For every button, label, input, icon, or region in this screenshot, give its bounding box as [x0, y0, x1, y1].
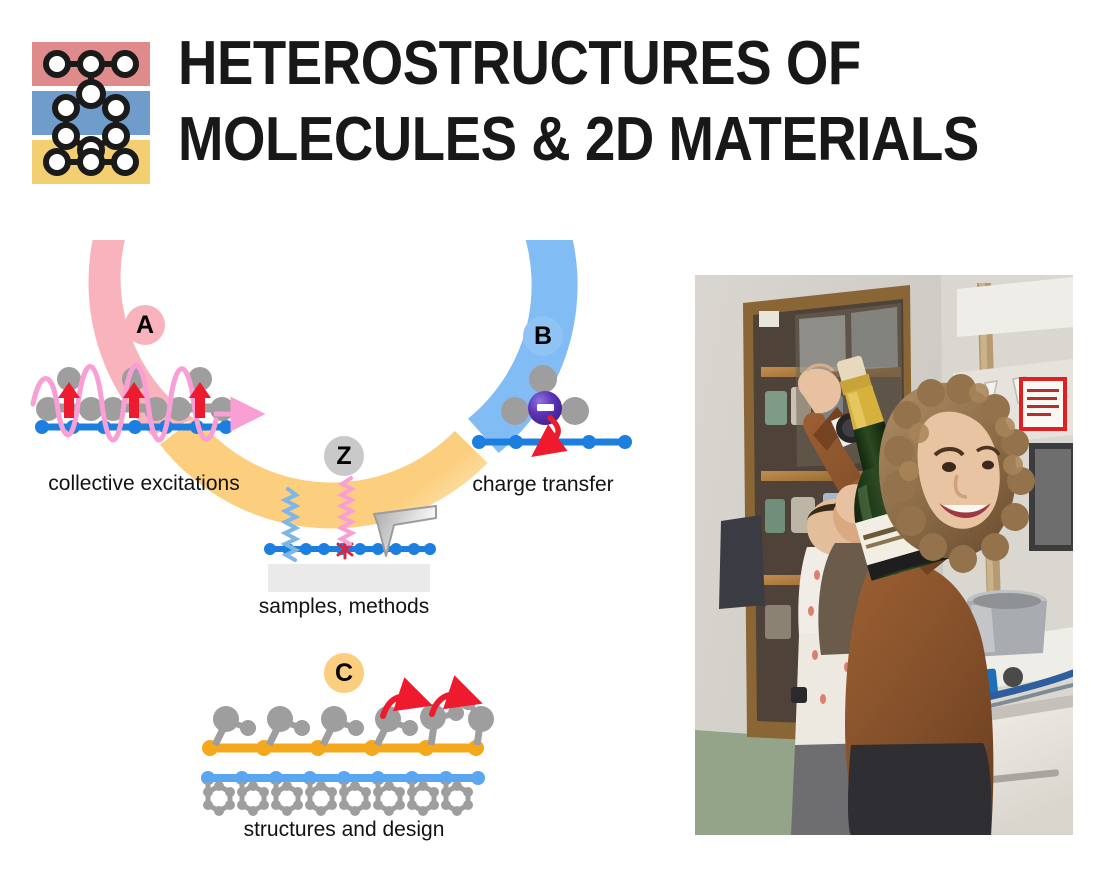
- photo-warning-sign: [1021, 379, 1065, 429]
- badge-b-label: B: [534, 324, 552, 349]
- badge-c[interactable]: C: [324, 653, 364, 693]
- caption-b: charge transfer: [423, 473, 663, 497]
- badge-b[interactable]: B: [523, 316, 563, 356]
- panel-a-illustration: [33, 366, 243, 440]
- page-header: HETEROSTRUCTURES OF MOLECULES & 2D MATER…: [0, 0, 1120, 210]
- caption-a: collective excitations: [0, 472, 288, 496]
- caption-z: samples, methods: [224, 595, 464, 619]
- research-themes-diagram: A B Z C collective excitations charge tr…: [0, 240, 680, 860]
- page-title: HETEROSTRUCTURES OF MOLECULES & 2D MATER…: [178, 26, 1118, 178]
- diagram-svg: [0, 240, 680, 860]
- panel-c-hex-rings: [203, 781, 473, 816]
- panel-z-substrate: [268, 564, 430, 592]
- panel-b-transfer-arrow: [549, 418, 558, 444]
- panel-b-minus-sign: [537, 404, 554, 411]
- badge-c-label: C: [335, 661, 353, 686]
- badge-a[interactable]: A: [125, 305, 165, 345]
- page-title-line-2: MOLECULES & 2D MATERIALS: [178, 102, 1005, 178]
- badge-a-label: A: [136, 313, 154, 338]
- panel-c-molecules: [213, 694, 494, 745]
- panel-c-illustration: [201, 694, 494, 816]
- page-title-line-1: HETEROSTRUCTURES OF: [178, 26, 1005, 102]
- badge-z[interactable]: Z: [324, 436, 364, 476]
- caption-c: structures and design: [214, 818, 474, 842]
- heterostructure-logo-icon: [32, 42, 150, 184]
- lab-celebration-photo: [695, 275, 1073, 835]
- photo-svg: [695, 275, 1073, 835]
- logo-svg: [32, 42, 150, 184]
- badge-z-label: Z: [336, 444, 351, 469]
- panel-c-orange-chain: [202, 740, 484, 756]
